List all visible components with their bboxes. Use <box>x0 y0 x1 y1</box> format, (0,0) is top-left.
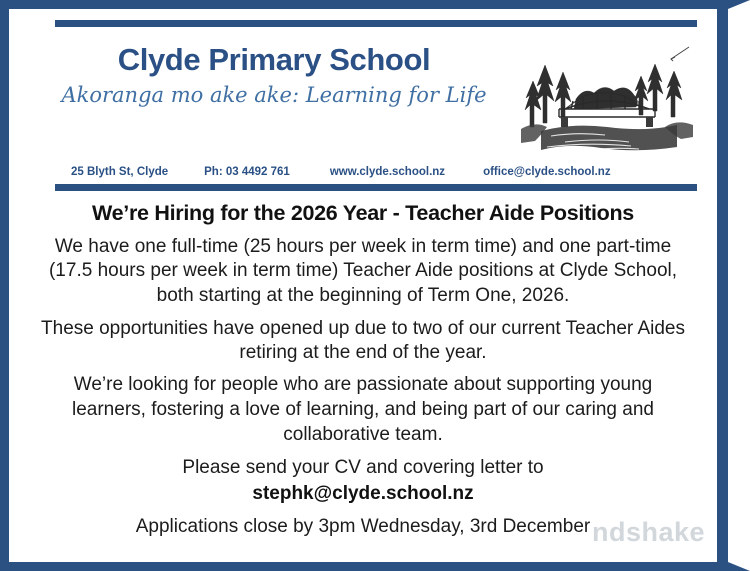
letterhead-bottom-rule <box>55 184 697 191</box>
contact-row: 25 Blyth St, Clyde Ph: 03 4492 761 www.c… <box>55 166 697 178</box>
school-name: Clyde Primary School <box>55 43 493 77</box>
bridge-river-logo-icon <box>521 39 693 151</box>
advertisement-body: We’re Hiring for the 2026 Year - Teacher… <box>9 191 717 539</box>
advert-paragraph-roles: We have one full-time (25 hours per week… <box>33 235 693 309</box>
contact-email[interactable]: office@clyde.school.nz <box>483 166 611 178</box>
advert-headline: We’re Hiring for the 2026 Year - Teacher… <box>33 201 693 226</box>
advert-paragraph-reason: These opportunities have opened up due t… <box>33 317 693 366</box>
advertisement-frame: ndshake Clyde Primary School Akoranga mo… <box>0 0 750 571</box>
advert-paragraph-values: We’re looking for people who are passion… <box>33 373 693 447</box>
letterhead-text-block: Clyde Primary School Akoranga mo ake ake… <box>55 37 521 107</box>
contact-website[interactable]: www.clyde.school.nz <box>330 166 445 178</box>
contact-address: 25 Blyth St, Clyde <box>71 166 168 178</box>
advertisement-inner: ndshake Clyde Primary School Akoranga mo… <box>9 9 728 562</box>
letterhead-top-rule <box>55 20 697 27</box>
advert-application-email[interactable]: stephk@clyde.school.nz <box>33 482 693 507</box>
school-letterhead: Clyde Primary School Akoranga mo ake ake… <box>9 9 717 191</box>
letterhead-main: Clyde Primary School Akoranga mo ake ake… <box>55 37 697 164</box>
contact-phone: Ph: 03 4492 761 <box>204 166 290 178</box>
school-tagline: Akoranga mo ake ake: Learning for Life <box>55 83 493 107</box>
advert-closing-date: Applications close by 3pm Wednesday, 3rd… <box>33 515 693 540</box>
advert-cv-instruction: Please send your CV and covering letter … <box>33 454 693 481</box>
